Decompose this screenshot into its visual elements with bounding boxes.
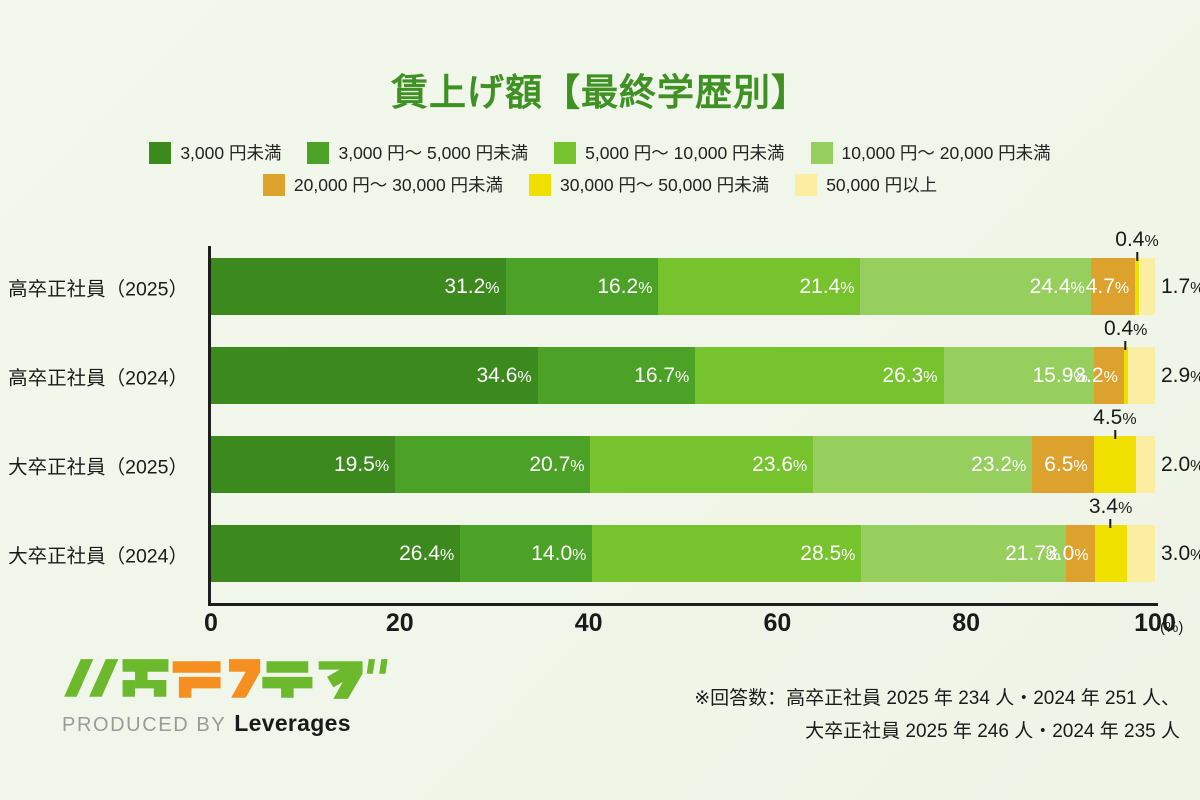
bar-segment[interactable]: 2.0%	[1136, 436, 1155, 493]
legend-item[interactable]: 30,000 円〜 50,000 円未満	[529, 172, 769, 197]
legend-row-1: 3,000 円未満3,000 円〜 5,000 円未満5,000 円〜 10,0…	[0, 140, 1200, 165]
bar-segment[interactable]: 26.3%	[695, 347, 943, 404]
bar-segment-label: 16.7%	[634, 364, 689, 388]
bar-segment-label: 28.5%	[800, 542, 855, 566]
legend-item[interactable]: 20,000 円〜 30,000 円未満	[263, 172, 503, 197]
bar-segment-callout-label: 3.4%	[1089, 495, 1132, 519]
chart-page: 賃上げ額【最終学歴別】 3,000 円未満3,000 円〜 5,000 円未満5…	[0, 0, 1200, 800]
bar-rows: 31.2%16.2%21.4%24.4%4.7%0.4%1.7%34.6%16.…	[211, 246, 1155, 603]
y-axis-label: 高卒正社員（2025）	[8, 272, 188, 301]
bar-segment[interactable]: 16.2%	[506, 258, 659, 315]
bar-segment[interactable]: 3.0%	[1127, 525, 1155, 582]
y-axis-label: 大卒正社員（2024）	[8, 539, 188, 568]
bar-segment[interactable]: 16.7%	[538, 347, 696, 404]
bar-segment-label: 24.4%	[1030, 275, 1085, 299]
bar-segment-label: 19.5%	[334, 453, 389, 477]
bar-row: 31.2%16.2%21.4%24.4%4.7%0.4%1.7%	[211, 258, 1155, 315]
legend-label: 10,000 円〜 20,000 円未満	[842, 140, 1051, 165]
bar-segment-label: 20.7%	[529, 453, 584, 477]
bar-segment[interactable]: 14.0%	[460, 525, 592, 582]
x-axis-tick-label: 80	[952, 609, 980, 638]
legend-swatch-icon	[307, 142, 329, 164]
produced-by-text: PRODUCED BY	[62, 714, 226, 737]
x-axis-tick-label: 40	[575, 609, 603, 638]
bar-segment-callout-label: 0.4%	[1104, 317, 1147, 341]
bar-segment[interactable]: 3.2%	[1094, 347, 1124, 404]
x-axis-tick-label: 0	[204, 609, 218, 638]
bar-segment-label: 23.6%	[752, 453, 807, 477]
bar-row: 19.5%20.7%23.6%23.2%6.5%4.5%2.0%	[211, 436, 1155, 493]
bar-segment-label: 14.0%	[531, 542, 586, 566]
legend-swatch-icon	[554, 142, 576, 164]
y-axis-label: 高卒正社員（2024）	[8, 361, 188, 390]
bar-segment[interactable]: 19.5%	[211, 436, 395, 493]
bar-segment[interactable]: 15.9%	[944, 347, 1094, 404]
legend-item[interactable]: 3,000 円〜 5,000 円未満	[307, 140, 528, 165]
bar-segment-label: 26.3%	[882, 364, 937, 388]
bar-segment-callout-label: 4.5%	[1093, 406, 1136, 430]
bar-segment[interactable]: 1.7%	[1139, 258, 1155, 315]
brand-logo: PRODUCED BY Leverages	[62, 655, 402, 737]
x-axis-tick-label: 60	[763, 609, 791, 638]
bar-segment-label: 3.0%	[1045, 542, 1088, 566]
hataraktive-logo-icon	[62, 655, 396, 703]
legend-swatch-icon	[795, 174, 817, 196]
bar-segment[interactable]: 21.7%	[861, 525, 1066, 582]
page-title: 賃上げ額【最終学歴別】	[0, 62, 1200, 116]
bar-segment[interactable]: 4.5%	[1094, 436, 1136, 493]
bar-segment-label: 3.2%	[1074, 364, 1117, 388]
legend-label: 3,000 円〜 5,000 円未満	[338, 140, 528, 165]
bar-segment[interactable]: 24.4%	[860, 258, 1090, 315]
bar-segment-label: 31.2%	[444, 275, 499, 299]
bar-segment[interactable]: 31.2%	[211, 258, 506, 315]
bar-segment[interactable]: 21.4%	[658, 258, 860, 315]
bar-segment[interactable]: 28.5%	[592, 525, 861, 582]
bar-segment[interactable]: 23.6%	[590, 436, 813, 493]
bar-segment-label: 4.7%	[1086, 275, 1129, 299]
y-axis-labels: 高卒正社員（2025）高卒正社員（2024）大卒正社員（2025）大卒正社員（2…	[0, 246, 200, 603]
survey-note-line-1: ※回答数：高卒正社員 2025 年 234 人・2024 年 251 人、	[520, 682, 1180, 715]
bar-segment[interactable]: 3.4%	[1095, 525, 1127, 582]
bar-row: 26.4%14.0%28.5%21.7%3.0%3.4%3.0%	[211, 525, 1155, 582]
bar-segment[interactable]: 34.6%	[211, 347, 538, 404]
x-axis-tick-label: 100	[1134, 609, 1176, 638]
legend-label: 3,000 円未満	[180, 140, 281, 165]
legend-item[interactable]: 50,000 円以上	[795, 172, 937, 197]
bar-row: 34.6%16.7%26.3%15.9%3.2%0.4%2.9%	[211, 347, 1155, 404]
legend-row-2: 20,000 円〜 30,000 円未満30,000 円〜 50,000 円未満…	[0, 172, 1200, 197]
x-axis-tick-label: 20	[386, 609, 414, 638]
bar-segment[interactable]: 6.5%	[1032, 436, 1093, 493]
legend-item[interactable]: 10,000 円〜 20,000 円未満	[811, 140, 1051, 165]
bar-segment-label: 3.0%	[1161, 542, 1200, 566]
bar-segment-label: 23.2%	[971, 453, 1026, 477]
legend-label: 20,000 円〜 30,000 円未満	[294, 172, 503, 197]
bar-segment-label: 2.0%	[1161, 453, 1200, 477]
bar-segment-callout-label: 0.4%	[1115, 228, 1158, 252]
chart-legend: 3,000 円未満3,000 円〜 5,000 円未満5,000 円〜 10,0…	[0, 140, 1200, 204]
bar-segment-label: 26.4%	[399, 542, 454, 566]
legend-swatch-icon	[149, 142, 171, 164]
legend-label: 30,000 円〜 50,000 円未満	[560, 172, 769, 197]
legend-swatch-icon	[529, 174, 551, 196]
bar-segment[interactable]: 4.7%	[1091, 258, 1135, 315]
bar-segment[interactable]: 2.9%	[1128, 347, 1155, 404]
bar-segment-label: 21.4%	[799, 275, 854, 299]
y-axis-label: 大卒正社員（2025）	[8, 450, 188, 479]
bar-segment-label: 2.9%	[1161, 364, 1200, 388]
company-name: Leverages	[234, 710, 351, 737]
legend-item[interactable]: 3,000 円未満	[149, 140, 281, 165]
legend-swatch-icon	[811, 142, 833, 164]
legend-label: 50,000 円以上	[826, 172, 937, 197]
legend-item[interactable]: 5,000 円〜 10,000 円未満	[554, 140, 784, 165]
stacked-bar-chart: 31.2%16.2%21.4%24.4%4.7%0.4%1.7%34.6%16.…	[208, 246, 1155, 606]
bar-segment-label: 1.7%	[1161, 275, 1200, 299]
survey-note: ※回答数：高卒正社員 2025 年 234 人・2024 年 251 人、 大卒…	[520, 682, 1180, 749]
survey-note-line-2: 大卒正社員 2025 年 246 人・2024 年 235 人	[520, 715, 1180, 748]
x-axis-ticks: (%) 020406080100	[208, 603, 1168, 643]
bar-segment-label: 6.5%	[1044, 453, 1087, 477]
bar-segment[interactable]: 20.7%	[395, 436, 590, 493]
bar-segment[interactable]: 26.4%	[211, 525, 460, 582]
bar-segment-label: 16.2%	[597, 275, 652, 299]
legend-swatch-icon	[263, 174, 285, 196]
bar-segment[interactable]: 3.0%	[1066, 525, 1094, 582]
bar-segment[interactable]: 23.2%	[813, 436, 1032, 493]
legend-label: 5,000 円〜 10,000 円未満	[585, 140, 784, 165]
bar-segment-label: 34.6%	[477, 364, 532, 388]
